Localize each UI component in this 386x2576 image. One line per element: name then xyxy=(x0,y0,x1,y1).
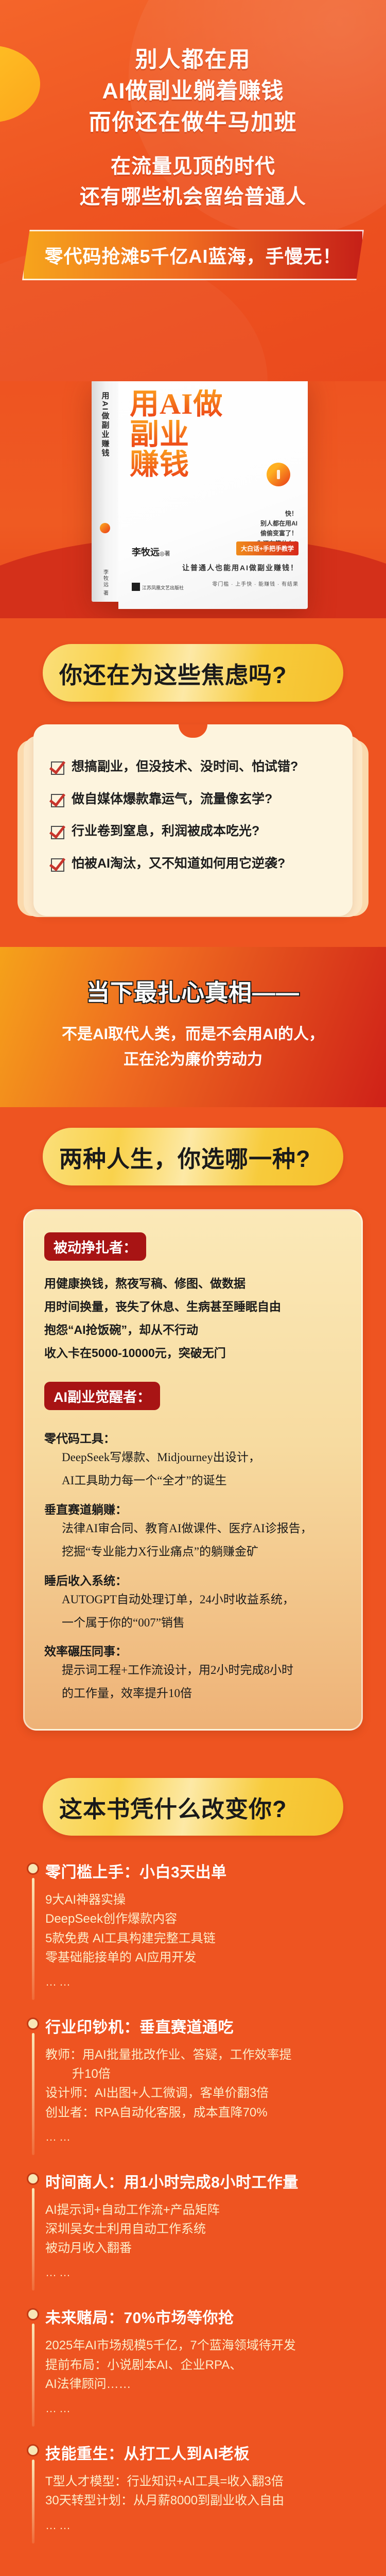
checkbox-check-icon xyxy=(51,858,64,872)
landing-page: 别人都在用 AI做副业躺着赚钱 而你还在做牛马加班 在流量见顶的时代 还有哪些机… xyxy=(0,0,386,2576)
publisher-logo-icon xyxy=(132,583,140,591)
book-front-cover: 用AI做 副业 赚钱 快！ 别人都在用AI 偷偷变富了！ 你还在等什么? 李牧远… xyxy=(118,381,308,609)
awakened-group-line: 的工作量，效率提升10倍 xyxy=(44,1682,344,1705)
awakened-group-line: AUTOGPT自动处理订单，24小时收益系统， xyxy=(44,1588,344,1612)
hero-ribbon-banner: 零代码抢滩5千亿AI蓝海，手慢无！ xyxy=(22,230,364,280)
two-lives-card: 被动挣扎者： 用健康换钱，熬夜写稿、修图、做数据 用时间换量，丧失了休息、生病甚… xyxy=(23,1209,363,1731)
awakened-group-line: 挖掘“专业能力X行业痛点”的躺赚金矿 xyxy=(44,1540,344,1564)
checkbox-check-icon xyxy=(51,826,64,839)
why-item-line: 创业者：RPA自动化客服，成本直降70% xyxy=(45,2103,371,2122)
why-item-ellipsis: …… xyxy=(45,2264,371,2281)
awakened-group-key: 睡后收入系统： xyxy=(44,1571,344,1588)
why-item-body: 教师：用AI批量批改作业、答疑，工作效率提 升10倍 设计师：AI出图+人工微调… xyxy=(45,2045,371,2146)
why-item-body: 9大AI神器实操 DeepSeek创作爆款内容 5款免费 AI工具构建完整工具链… xyxy=(45,1890,371,1991)
why-item-line: AI提示词+自动工作流+产品矩阵 xyxy=(45,2200,371,2219)
why-item-title: 行业印钞机：垂直赛道通吃 xyxy=(45,2014,371,2037)
why-item-line: 2025年AI市场规模5千亿，7个蓝海领域待开发 xyxy=(45,2336,371,2355)
coin-icon xyxy=(100,523,110,533)
truth-heading: 当下最扎心真相—— xyxy=(0,974,386,1007)
tagline-line-3: 偷偷变富了！ xyxy=(257,529,297,538)
bullet-dot-icon xyxy=(27,2173,39,2185)
checkbox-check-icon xyxy=(51,761,64,775)
why-item-line: 设计师：AI出图+人工微调，客单价翻3倍 xyxy=(45,2083,371,2103)
why-feature-item: 未来赌局：70%市场等你抢 2025年AI市场规模5千亿，7个蓝海领域待开发 提… xyxy=(27,2305,371,2417)
why-item-line: 30天转型计划：从月薪8000到副业收入自由 xyxy=(45,2491,371,2510)
why-section: 这本书凭什么改变你? 零门槛上手：小白3天出单 9大AI神器实操 DeepSee… xyxy=(0,1754,386,2573)
awakened-group-key: 垂直赛道躺赚： xyxy=(44,1500,344,1517)
book-3d-mockup: 用AI做副业赚钱 李牧远 著 用AI做 副业 赚钱 快！ 别人都在用AI 偷偷变… xyxy=(92,381,308,609)
why-item-line: 教师：用AI批量批改作业、答疑，工作效率提 xyxy=(45,2045,371,2064)
why-feature-item: 行业印钞机：垂直赛道通吃 教师：用AI批量批改作业、答疑，工作效率提 升10倍 … xyxy=(27,2014,371,2146)
book-spine-author: 李牧远 著 xyxy=(101,569,109,597)
why-item-line: 零基础能接单的 AI应用开发 xyxy=(45,1948,371,1967)
awakened-group-key: 零代码工具： xyxy=(44,1429,344,1446)
why-item-line: 提前布局：小说剧本AI、企业RPA、 xyxy=(45,2355,371,2375)
anxiety-item-text: 怕被AI淘汰，又不知道如何用它逆袭? xyxy=(72,855,285,872)
awakened-group-line: DeepSeek写爆款、Midjourney出设计， xyxy=(44,1446,344,1469)
why-heading-pill: 这本书凭什么改变你? xyxy=(43,1778,343,1836)
awakened-group-line: 一个属于你的“007”销售 xyxy=(44,1612,344,1635)
timeline-bar xyxy=(32,2324,34,2427)
book-cover-features: 零门槛 · 上手快 · 能赚钱 · 有结果 xyxy=(212,580,299,587)
hero-subheadline: 在流量见顶的时代 还有哪些机会留给普通人 xyxy=(0,152,386,212)
book-cover-badge: 大白话+手把手教学 xyxy=(236,541,299,555)
hero-subheadline-line-1: 在流量见顶的时代 xyxy=(0,152,386,182)
why-item-line-indent: 升10倍 xyxy=(45,2064,371,2083)
hero-section: 别人都在用 AI做副业躺着赚钱 而你还在做牛马加班 在流量见顶的时代 还有哪些机… xyxy=(0,0,386,381)
book-gallery-section: 还在担心AI抢饭碗？职场人、自由职业者已经用AI早早换了工作了！这本书，就是写给… xyxy=(0,2573,386,2576)
book-cover-title-line-1: 用AI做 xyxy=(130,389,296,420)
bullet-dot-icon xyxy=(27,2018,39,2030)
anxiety-card-notch xyxy=(179,724,207,738)
passive-line: 用健康换钱，熬夜写稿、修图、做数据 xyxy=(44,1272,344,1295)
timeline-bar xyxy=(32,1878,34,2000)
book-publisher: 江苏凤凰文艺出版社 xyxy=(132,583,184,591)
checkbox-check-icon xyxy=(51,794,64,807)
book-cover-title-line-2: 副业 xyxy=(130,420,296,450)
why-feature-item: 时间商人：用1小时完成8小时工作量 AI提示词+自动工作流+产品矩阵 深圳吴女士… xyxy=(27,2170,371,2282)
publisher-name: 江苏凤凰文艺出版社 xyxy=(142,585,184,590)
why-item-body: T型人才模型：行业知识+AI工具=收入翻3倍 30天转型计划：从月薪8000到副… xyxy=(45,2472,371,2534)
awakened-group-key: 效率碾压同事： xyxy=(44,1641,344,1659)
timeline-bar xyxy=(32,2033,34,2155)
why-item-ellipsis: …… xyxy=(45,1973,371,1991)
bullet-dot-icon xyxy=(27,2444,39,2456)
why-feature-list: 零门槛上手：小白3天出单 9大AI神器实操 DeepSeek创作爆款内容 5款免… xyxy=(0,1859,386,2534)
why-item-title: 时间商人：用1小时完成8小时工作量 xyxy=(45,2170,371,2192)
bullet-dot-icon xyxy=(27,1862,39,1875)
anxiety-item-text: 行业卷到窒息，利润被成本吃光? xyxy=(72,823,259,840)
tagline-line-2: 别人都在用AI xyxy=(257,519,297,529)
two-lives-section: 两种人生，你选哪一种? 被动挣扎者： 用健康换钱，熬夜写稿、修图、做数据 用时间… xyxy=(0,1107,386,1754)
why-item-body: AI提示词+自动工作流+产品矩阵 深圳吴女士利用自动工作系统 被动月收入翻番 …… xyxy=(45,2200,371,2282)
anxiety-heading: 你还在为这些焦虑吗? xyxy=(59,656,287,690)
passive-line: 用时间换量，丧失了休息、生病甚至睡眠自由 xyxy=(44,1295,344,1318)
why-feature-item: 技能重生：从打工人到AI老板 T型人才模型：行业知识+AI工具=收入翻3倍 30… xyxy=(27,2441,371,2534)
why-item-ellipsis: …… xyxy=(45,2128,371,2146)
awakened-group-line: 法律AI审合同、教育AI做课件、医疗AI诊报告， xyxy=(44,1517,344,1540)
why-feature-item: 零门槛上手：小白3天出单 9大AI神器实操 DeepSeek创作爆款内容 5款免… xyxy=(27,1859,371,1991)
book-cover-showcase: 用AI做副业赚钱 李牧远 著 用AI做 副业 赚钱 快！ 别人都在用AI 偷偷变… xyxy=(0,381,386,618)
why-item-title: 未来赌局：70%市场等你抢 xyxy=(45,2305,371,2328)
author-suffix: ◎著 xyxy=(160,551,170,557)
why-item-line: 5款免费 AI工具构建完整工具链 xyxy=(45,1929,371,1948)
truth-body-line-2: 正在沦为廉价劳动力 xyxy=(0,1048,386,1071)
why-item-line: 9大AI神器实操 xyxy=(45,1890,371,1909)
bullet-dot-icon xyxy=(27,2308,39,2320)
why-item-ellipsis: …… xyxy=(45,2517,371,2534)
anxiety-item-text: 想搞副业，但没技术、没时间、怕试错? xyxy=(72,758,298,775)
anxiety-card-wrapper: 想搞副业，但没技术、没时间、怕试错? 做自媒体爆款靠运气，流量像玄学? 行业卷到… xyxy=(0,702,386,947)
passive-line: 收入卡在5000-10000元，突破无门 xyxy=(44,1342,344,1365)
anxiety-card: 想搞副业，但没技术、没时间、怕试错? 做自媒体爆款靠运气，流量像玄学? 行业卷到… xyxy=(33,724,353,916)
hero-subheadline-line-2: 还有哪些机会留给普通人 xyxy=(0,182,386,213)
book-spine: 用AI做副业赚钱 李牧远 著 xyxy=(92,381,118,602)
why-item-line: 被动月收入翻番 xyxy=(45,2239,371,2258)
why-item-line: AI法律顾问…… xyxy=(45,2375,371,2394)
truth-body-line-1: 不是AI取代人类，而是不会用AI的人， xyxy=(0,1023,386,1046)
book-cover-author: 李牧远◎著 xyxy=(132,545,170,558)
why-heading: 这本书凭什么改变你? xyxy=(59,1790,287,1824)
author-name: 李牧远 xyxy=(132,547,160,557)
anxiety-heading-pill: 你还在为这些焦虑吗? xyxy=(43,644,343,702)
hero-headline-line-3: 而你还在做牛马加班 xyxy=(0,107,386,139)
why-item-ellipsis: …… xyxy=(45,2400,371,2417)
why-item-line: T型人才模型：行业知识+AI工具=收入翻3倍 xyxy=(45,2472,371,2491)
anxiety-item: 做自媒体爆款靠运气，流量像玄学? xyxy=(51,791,339,808)
book-spine-title: 用AI做副业赚钱 xyxy=(100,392,111,458)
why-item-title: 零门槛上手：小白3天出单 xyxy=(45,1859,371,1882)
why-item-line: DeepSeek创作爆款内容 xyxy=(45,1909,371,1928)
hero-ribbon-text: 零代码抢滩5千亿AI蓝海，手慢无！ xyxy=(44,242,341,268)
awakened-group-line: AI工具助力每一个“全才”的诞生 xyxy=(44,1469,344,1493)
why-item-line: 深圳吴女士利用自动工作系统 xyxy=(45,2219,371,2239)
anxiety-item: 想搞副业，但没技术、没时间、怕试错? xyxy=(51,758,339,775)
why-item-body: 2025年AI市场规模5千亿，7个蓝海领域待开发 提前布局：小说剧本AI、企业R… xyxy=(45,2336,371,2417)
two-lives-heading: 两种人生，你选哪一种? xyxy=(59,1140,311,1174)
two-lives-heading-pill: 两种人生，你选哪一种? xyxy=(43,1128,343,1185)
anxiety-item: 怕被AI淘汰，又不知道如何用它逆袭? xyxy=(51,855,339,872)
coin-gear-icon xyxy=(267,463,290,486)
anxiety-section: 你还在为这些焦虑吗? 想搞副业，但没技术、没时间、怕试错? 做自媒体爆款靠运气，… xyxy=(0,618,386,947)
why-item-title: 技能重生：从打工人到AI老板 xyxy=(45,2441,371,2464)
passive-line: 抱怨“AI抢饭碗”，却从不行动 xyxy=(44,1318,344,1342)
tagline-line-1: 快！ xyxy=(257,509,297,519)
awakened-group-line: 提示词工程+工作流设计，用2小时完成8小时 xyxy=(44,1659,344,1682)
anxiety-item: 行业卷到窒息，利润被成本吃光? xyxy=(51,823,339,840)
passive-tag: 被动挣扎者： xyxy=(44,1232,146,1261)
anxiety-item-text: 做自媒体爆款靠运气，流量像玄学? xyxy=(72,791,272,808)
awakened-tag: AI副业觉醒者： xyxy=(44,1382,160,1410)
book-cover-promise: 让普通人也能用AI做副业赚钱！ xyxy=(182,563,299,573)
hero-headline-line-1: 别人都在用 xyxy=(0,44,386,76)
timeline-bar xyxy=(32,2188,34,2291)
hero-headline-line-2: AI做副业躺着赚钱 xyxy=(0,76,386,107)
truth-section: 当下最扎心真相—— 不是AI取代人类，而是不会用AI的人， 正在沦为廉价劳动力 xyxy=(0,947,386,1107)
timeline-bar xyxy=(32,2460,34,2543)
